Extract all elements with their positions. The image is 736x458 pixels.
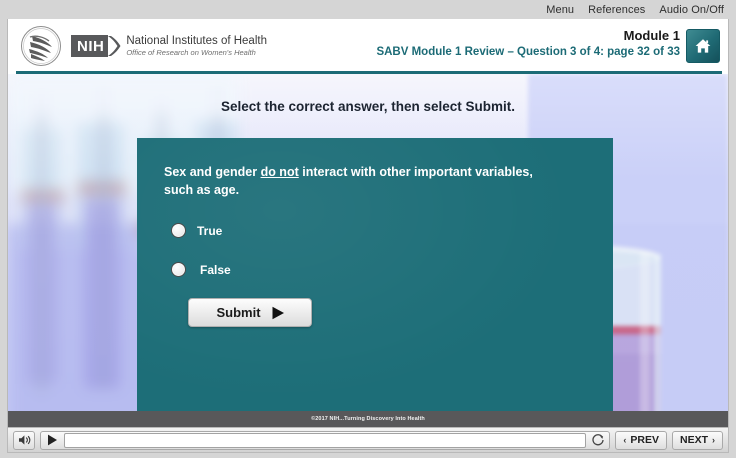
next-label: NEXT xyxy=(680,434,708,446)
next-chevron-icon: › xyxy=(712,435,715,445)
copyright-text: ©2017 NIH...Turning Discovery Into Healt… xyxy=(311,416,425,422)
menu-link-audio-toggle[interactable]: Audio On/Off xyxy=(659,4,724,16)
replay-button[interactable] xyxy=(590,432,606,448)
nih-acronym: NIH xyxy=(71,35,108,57)
speaker-icon xyxy=(18,434,31,446)
nih-arrow-icon xyxy=(108,36,121,56)
volume-button[interactable] xyxy=(13,431,35,450)
home-icon xyxy=(694,37,712,55)
course-header: NIH National Institutes of Health Office… xyxy=(8,19,728,71)
hhs-seal-icon xyxy=(18,25,64,67)
menu-link-references[interactable]: References xyxy=(588,4,645,16)
replay-circle-icon xyxy=(591,433,605,447)
home-button[interactable] xyxy=(686,29,720,63)
prev-label: PREV xyxy=(630,434,659,446)
prev-chevron-icon: ‹ xyxy=(623,435,626,445)
seek-bar-container xyxy=(40,431,610,450)
slide-content: Select the correct answer, then select S… xyxy=(8,74,728,427)
question-part-1: Sex and gender xyxy=(164,165,261,179)
radio-false[interactable] xyxy=(171,262,186,277)
slide-stage: NIH National Institutes of Health Office… xyxy=(7,19,729,427)
radio-true[interactable] xyxy=(171,223,186,238)
nih-agency-text: National Institutes of Health Office of … xyxy=(126,35,267,57)
top-menu-bar: Menu References Audio On/Off xyxy=(0,0,736,19)
answer-option-false[interactable]: False xyxy=(171,262,231,277)
player-control-bar: ‹ PREV NEXT › xyxy=(7,427,729,453)
office-name: Office of Research on Women's Health xyxy=(126,48,267,57)
header-titles: Module 1 SABV Module 1 Review – Question… xyxy=(376,27,680,60)
play-icon xyxy=(47,434,58,446)
seek-slider[interactable] xyxy=(64,433,586,448)
instruction-text: Select the correct answer, then select S… xyxy=(8,99,728,114)
module-label: Module 1 xyxy=(376,27,680,45)
breadcrumb: SABV Module 1 Review – Question 3 of 4: … xyxy=(376,45,680,61)
copyright-bar: ©2017 NIH...Turning Discovery Into Healt… xyxy=(8,411,728,427)
answer-option-true[interactable]: True xyxy=(171,223,222,238)
question-panel: Sex and gender do not interact with othe… xyxy=(137,138,613,427)
play-triangle-icon xyxy=(271,306,286,320)
next-button[interactable]: NEXT › xyxy=(672,431,723,450)
answer-label-true: True xyxy=(197,224,222,238)
submit-label: Submit xyxy=(216,305,260,320)
course-player-window: Menu References Audio On/Off xyxy=(0,0,736,458)
answer-label-false: False xyxy=(200,263,231,277)
question-emphasis: do not xyxy=(261,165,299,179)
question-text: Sex and gender do not interact with othe… xyxy=(164,164,564,200)
submit-button[interactable]: Submit xyxy=(188,298,312,327)
nih-wordmark: NIH National Institutes of Health Office… xyxy=(71,35,267,57)
agency-name: National Institutes of Health xyxy=(126,35,267,48)
play-button[interactable] xyxy=(44,433,60,448)
prev-button[interactable]: ‹ PREV xyxy=(615,431,667,450)
menu-link-menu[interactable]: Menu xyxy=(546,4,574,16)
nih-logo: NIH National Institutes of Health Office… xyxy=(18,25,267,67)
